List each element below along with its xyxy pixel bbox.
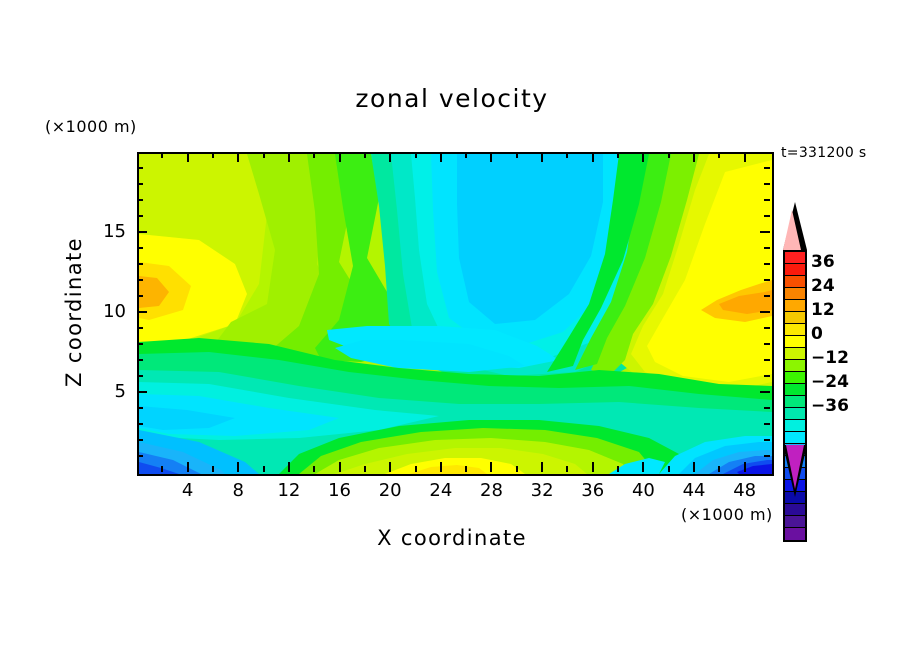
colorbar-tick-label: −12 bbox=[811, 348, 849, 368]
colorbar-band bbox=[785, 360, 805, 372]
colorbar-band bbox=[785, 372, 805, 384]
contour-plot-area bbox=[137, 152, 774, 476]
colorbar-band bbox=[785, 300, 805, 312]
colorbar-under-arrow-fill bbox=[786, 445, 804, 489]
colorbar-band bbox=[785, 516, 805, 528]
colorbar-band bbox=[785, 396, 805, 408]
colorbar-band bbox=[785, 420, 805, 432]
colorbar-band bbox=[785, 288, 805, 300]
colorbar-band bbox=[785, 336, 805, 348]
colorbar-band bbox=[785, 528, 805, 540]
colorbar-band bbox=[785, 348, 805, 360]
colorbar-tick-label: 0 bbox=[811, 324, 823, 344]
x-tick-label: 28 bbox=[467, 480, 515, 501]
colorbar-tick-label: 24 bbox=[811, 276, 835, 296]
x-tick-label: 4 bbox=[164, 480, 212, 501]
colorbar[interactable]: 3624120−12−24−36 bbox=[781, 202, 891, 512]
x-axis-title: X coordinate bbox=[0, 526, 904, 550]
colorbar-band bbox=[785, 312, 805, 324]
colorbar-band bbox=[785, 384, 805, 396]
timestamp-annotation: t=331200 s bbox=[781, 145, 866, 161]
colorbar-tick-label: 36 bbox=[811, 252, 835, 272]
x-tick-label: 12 bbox=[265, 480, 313, 501]
x-tick-label: 20 bbox=[366, 480, 414, 501]
x-tick-label: 8 bbox=[214, 480, 262, 501]
colorbar-band bbox=[785, 276, 805, 288]
colorbar-band bbox=[785, 408, 805, 420]
colorbar-band bbox=[785, 432, 805, 444]
x-tick-label: 48 bbox=[721, 480, 769, 501]
colorbar-tick-label: 12 bbox=[811, 300, 835, 320]
x-tick-label: 36 bbox=[569, 480, 617, 501]
colorbar-tick-label: −24 bbox=[811, 372, 849, 392]
y-axis-title: Z coordinate bbox=[62, 202, 86, 422]
x-tick-label: 40 bbox=[619, 480, 667, 501]
y-tick-label: 5 bbox=[92, 381, 126, 402]
colorbar-band bbox=[785, 324, 805, 336]
y-tick-label: 15 bbox=[92, 221, 126, 242]
x-axis-unit-label: (×1000 m) bbox=[681, 505, 773, 524]
x-tick-label: 16 bbox=[316, 480, 364, 501]
colorbar-band-stack bbox=[783, 250, 807, 542]
contour-field bbox=[139, 154, 772, 474]
page-title: zonal velocity bbox=[0, 84, 904, 113]
y-tick-label: 10 bbox=[92, 301, 126, 322]
colorbar-over-arrow-fill bbox=[783, 210, 801, 250]
x-tick-label: 32 bbox=[518, 480, 566, 501]
x-tick-label: 44 bbox=[670, 480, 718, 501]
x-tick-label: 24 bbox=[417, 480, 465, 501]
colorbar-band bbox=[785, 264, 805, 276]
colorbar-tick-label: −36 bbox=[811, 396, 849, 416]
colorbar-band bbox=[785, 504, 805, 516]
y-axis-unit-label: (×1000 m) bbox=[45, 117, 137, 136]
colorbar-band bbox=[785, 252, 805, 264]
